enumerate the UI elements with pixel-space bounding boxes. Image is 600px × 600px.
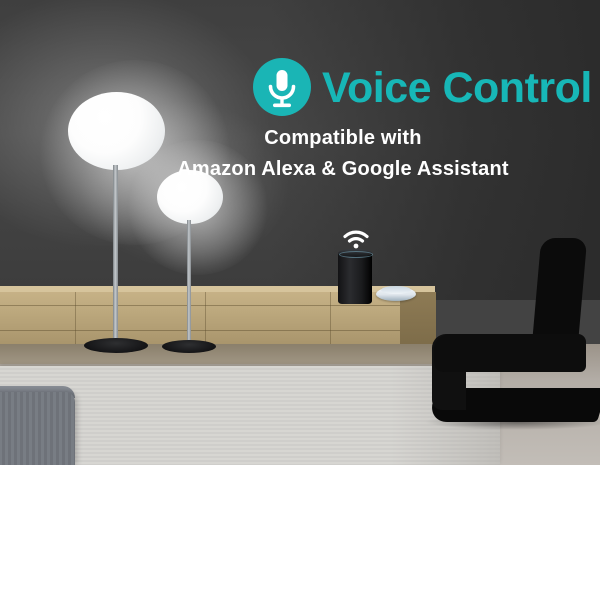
feature-panel: Voice Control Simply achieve voice contr… bbox=[0, 465, 600, 600]
product-marketing-image: Voice Control Compatible with Amazon Ale… bbox=[0, 0, 600, 600]
black-cantilever-chair bbox=[418, 238, 600, 428]
lamp-stem-small bbox=[187, 220, 191, 345]
subtitle-line-2: Amazon Alexa & Google Assistant bbox=[0, 158, 600, 181]
cabinet-panel-line bbox=[0, 305, 435, 306]
smart-speaker bbox=[338, 252, 372, 304]
room-scene: Voice Control Compatible with Amazon Ale… bbox=[0, 0, 600, 465]
cabinet-panel-line bbox=[330, 292, 331, 346]
smart-puck-top bbox=[381, 286, 411, 294]
cabinet-panel-line bbox=[75, 292, 76, 346]
floor-shadow-strip bbox=[0, 344, 435, 364]
cabinet-panel-line bbox=[0, 330, 435, 331]
page-title: Voice Control bbox=[322, 60, 592, 116]
subtitle-line-1: Compatible with bbox=[0, 127, 600, 150]
lamp-base-small bbox=[162, 340, 216, 353]
lamp-stem-large bbox=[113, 165, 118, 343]
microphone-icon bbox=[252, 57, 312, 117]
lamp-base-large bbox=[84, 338, 148, 353]
chair-seat bbox=[434, 334, 586, 372]
cabinet-panel-line bbox=[205, 292, 206, 346]
grey-sofa bbox=[0, 392, 75, 465]
wifi-icon bbox=[342, 229, 370, 249]
smart-speaker-light-ring bbox=[339, 251, 373, 258]
